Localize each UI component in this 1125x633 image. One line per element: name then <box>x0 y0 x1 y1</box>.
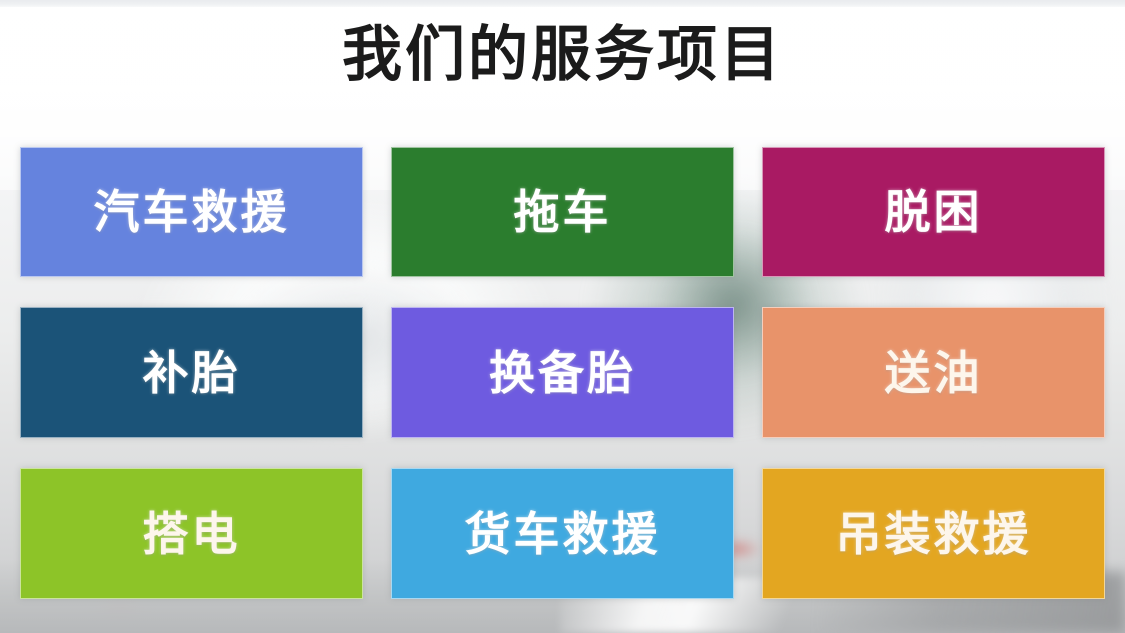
page-title: 我们的服务项目 <box>0 22 1125 88</box>
service-tile-tow-truck[interactable]: 拖车 <box>391 147 734 277</box>
service-tile-label: 汽车救援 <box>94 189 290 235</box>
service-tile-label: 送油 <box>885 350 983 396</box>
poster-content: 我们的服务项目 汽车救援 拖车 脱困 补胎 换备胎 送油 搭电 <box>0 0 1125 633</box>
service-tile-fuel-delivery[interactable]: 送油 <box>762 307 1105 438</box>
service-tile-car-rescue[interactable]: 汽车救援 <box>20 147 363 277</box>
service-tile-extrication[interactable]: 脱困 <box>762 147 1105 277</box>
service-tile-crane-rescue[interactable]: 吊装救援 <box>762 468 1105 599</box>
service-tile-label: 搭电 <box>143 511 241 557</box>
service-tile-tire-repair[interactable]: 补胎 <box>20 307 363 438</box>
service-tile-truck-rescue[interactable]: 货车救援 <box>391 468 734 599</box>
service-tile-label: 补胎 <box>143 350 241 396</box>
service-tile-spare-tire-change[interactable]: 换备胎 <box>391 307 734 438</box>
service-tile-jump-start[interactable]: 搭电 <box>20 468 363 599</box>
service-grid: 汽车救援 拖车 脱困 补胎 换备胎 送油 搭电 货车救援 <box>20 147 1105 600</box>
service-tile-label: 吊装救援 <box>836 511 1032 557</box>
service-tile-label: 脱困 <box>885 189 983 235</box>
service-poster-screen: 我们的服务项目 汽车救援 拖车 脱困 补胎 换备胎 送油 搭电 <box>0 0 1125 633</box>
service-tile-label: 换备胎 <box>489 350 636 396</box>
service-tile-label: 拖车 <box>514 189 612 235</box>
service-tile-label: 货车救援 <box>465 511 661 557</box>
